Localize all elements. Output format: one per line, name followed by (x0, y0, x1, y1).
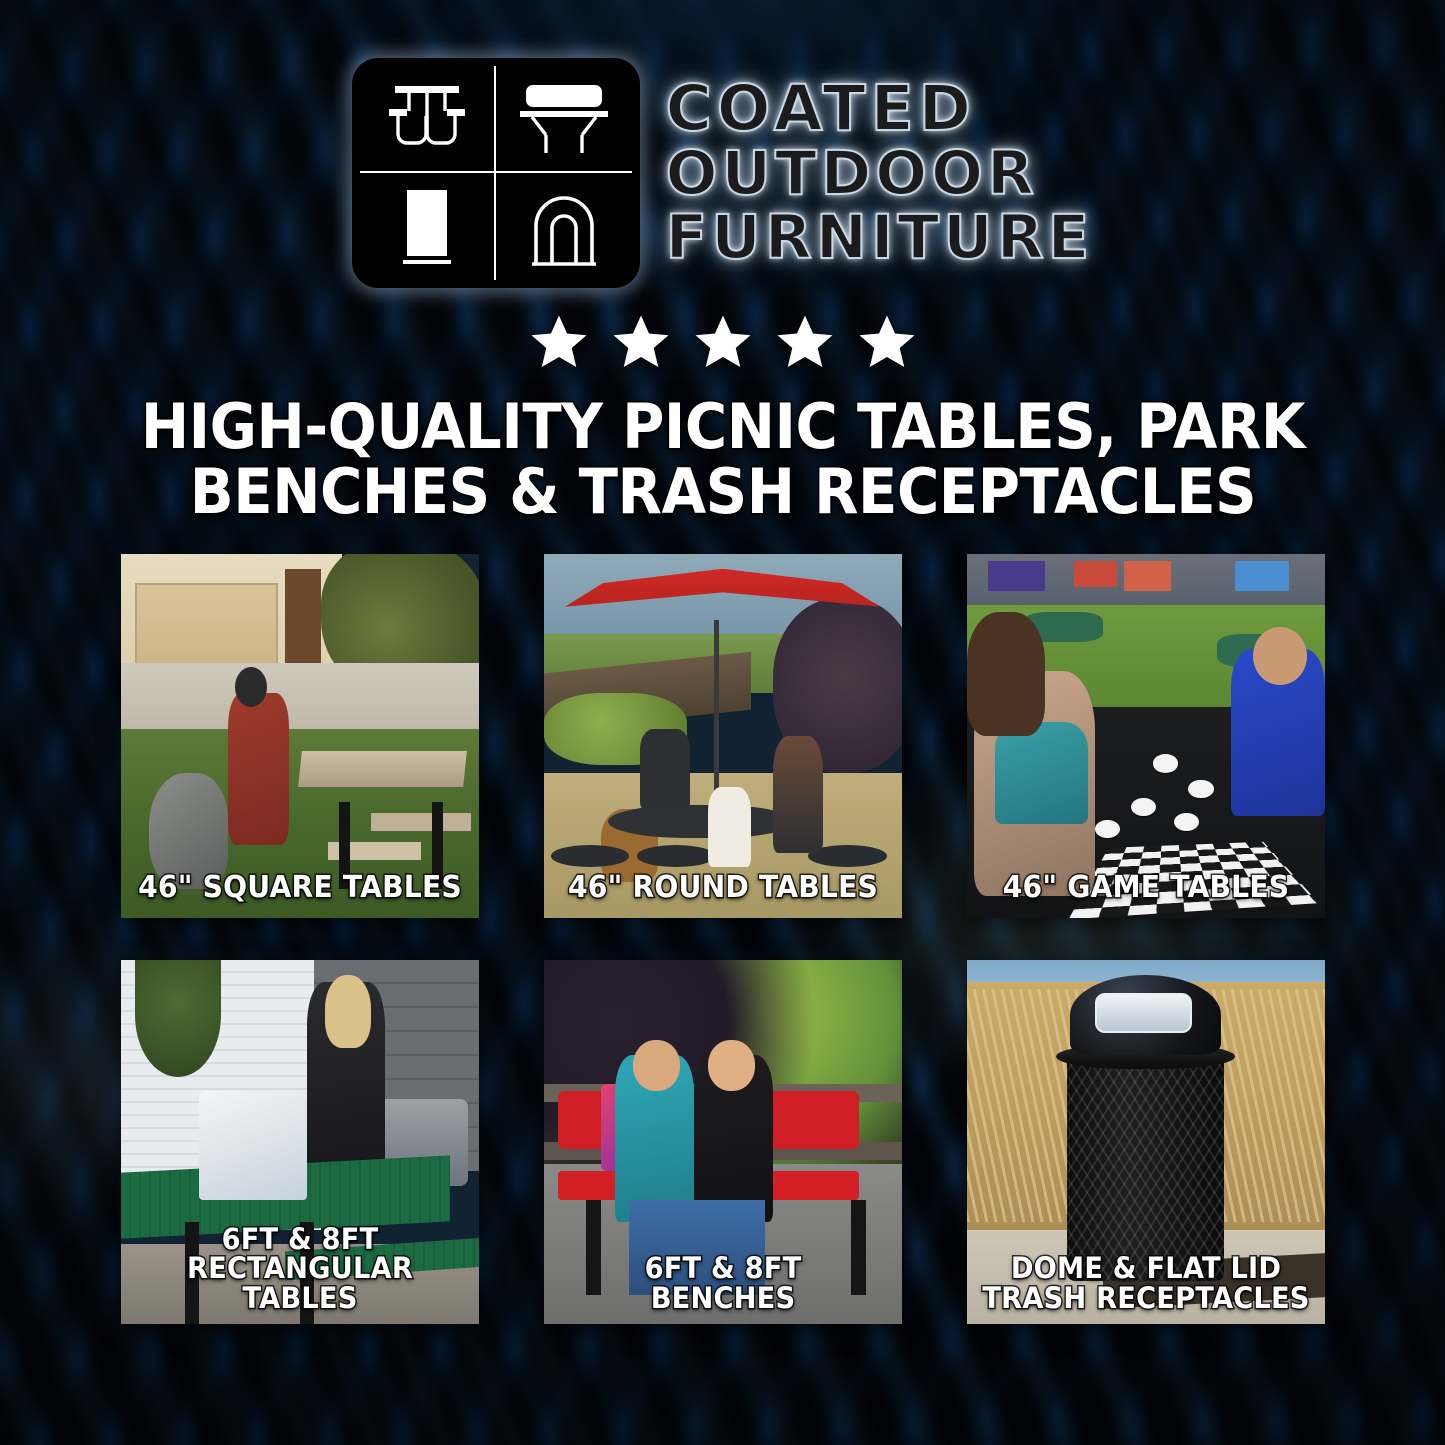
page-title: HIGH-QUALITY PICNIC TABLES, PARK BENCHES… (137, 394, 1309, 524)
product-caption: 6FT & 8FT BENCHES (554, 1254, 891, 1314)
product-caption-line-2: BENCHES (554, 1284, 891, 1314)
product-caption-line-2: TRASH RECEPTACLES (977, 1284, 1314, 1314)
product-caption-line-1: 6FT & 8FT (554, 1254, 891, 1284)
bench-icon (496, 66, 632, 173)
product-photo (544, 554, 902, 918)
trash-receptacle-icon (360, 173, 496, 280)
star-icon (610, 312, 672, 372)
poster-content: COATED OUTDOOR FURNITURE HIGH-QUALITY PI… (0, 0, 1445, 1445)
poster-canvas: COATED OUTDOOR FURNITURE HIGH-QUALITY PI… (0, 0, 1445, 1445)
star-icon (528, 312, 590, 372)
headline-line-2: BENCHES & TRASH RECEPTACLES (137, 459, 1309, 524)
star-icon (692, 312, 754, 372)
product-caption: DOME & FLAT LID TRASH RECEPTACLES (977, 1254, 1314, 1314)
product-caption: 46" ROUND TABLES (554, 873, 891, 904)
product-grid: 46" SQUARE TABLES 46" ROUND TABLES (121, 554, 1325, 1324)
brand-line-2: OUTDOOR (666, 143, 1094, 205)
picnic-table-icon (360, 66, 496, 173)
dome-lid-icon (496, 173, 632, 280)
star-icon (856, 312, 918, 372)
product-caption: 46" SQUARE TABLES (131, 873, 468, 904)
product-card-round-tables[interactable]: 46" ROUND TABLES (544, 554, 902, 918)
brand-line-1: COATED (666, 77, 1094, 141)
product-caption: 6FT & 8FT RECTANGULAR TABLES (131, 1225, 468, 1315)
product-caption-line-2: RECTANGULAR TABLES (131, 1254, 468, 1314)
brand-line-3: FURNITURE (666, 207, 1094, 269)
product-caption-line-1: DOME & FLAT LID (977, 1254, 1314, 1284)
headline-line-1: HIGH-QUALITY PICNIC TABLES, PARK (137, 394, 1309, 459)
product-card-benches[interactable]: 6FT & 8FT BENCHES (544, 960, 902, 1324)
product-card-trash-receptacles[interactable]: DOME & FLAT LID TRASH RECEPTACLES (967, 960, 1325, 1324)
product-caption-line-1: 6FT & 8FT (131, 1225, 468, 1255)
product-card-game-tables[interactable]: 46" GAME TABLES (967, 554, 1325, 918)
star-rating (528, 312, 918, 372)
product-photo (121, 554, 479, 918)
product-card-square-tables[interactable]: 46" SQUARE TABLES (121, 554, 479, 918)
brand-lockup: COATED OUTDOOR FURNITURE (352, 58, 1094, 288)
product-card-rectangular-tables[interactable]: 6FT & 8FT RECTANGULAR TABLES (121, 960, 479, 1324)
brand-wordmark: COATED OUTDOOR FURNITURE (666, 77, 1094, 270)
brand-logo-mark (352, 58, 640, 288)
star-icon (774, 312, 836, 372)
product-photo (967, 554, 1325, 918)
product-caption: 46" GAME TABLES (977, 873, 1314, 904)
